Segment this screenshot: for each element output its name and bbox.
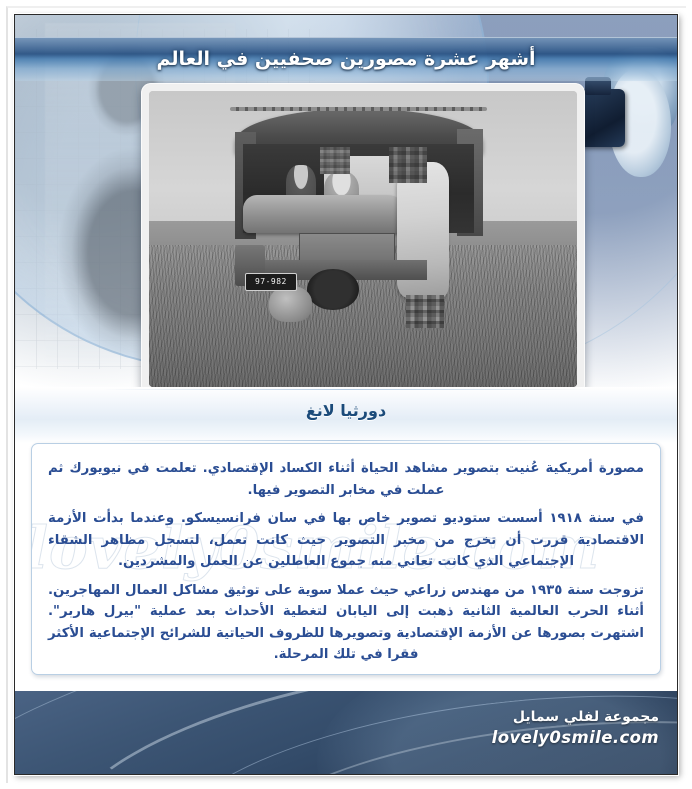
biography-paragraph: مصورة أمريكية عُنيت بتصوير مشاهد الحياة … [48, 458, 644, 501]
biography-card: lovely0smile.com مصورة أمريكية عُنيت بتص… [31, 443, 661, 675]
subject-name: دورثيا لانغ [15, 401, 677, 420]
page-title: أشهر عشرة مصورين صحفيين في العالم [15, 41, 677, 77]
featured-photo: 97-982 [149, 91, 577, 387]
license-plate: 97-982 [245, 273, 296, 291]
biography-section: lovely0smile.com مصورة أمريكية عُنيت بتص… [15, 443, 677, 691]
poster-page: أشهر عشرة مصورين صحفيين في العالم [0, 0, 692, 789]
footer-group-name: مجموعة لفلي سمايل [492, 709, 659, 727]
subject-name-band: دورثيا لانغ [15, 387, 677, 443]
header-banner: أشهر عشرة مصورين صحفيين في العالم [15, 15, 677, 387]
censor-pixel-block-top-left [320, 147, 350, 174]
bedding-roll [243, 195, 406, 233]
truck-wheel [307, 269, 358, 310]
censor-pixel-block-top-right [389, 147, 428, 183]
footer-brand: مجموعة لفلي سمايل lovely0smile.com [492, 709, 659, 748]
biography-paragraph: تزوجت سنة ١٩٣٥ من مهندس زراعي حيث عملا س… [48, 580, 644, 666]
featured-photo-card: 97-982 [141, 83, 585, 387]
truck-canopy-rail [230, 107, 487, 111]
biography-paragraph: في سنة ١٩١٨ أسست ستوديو تصوير خاص بها في… [48, 508, 644, 573]
footer-website-url[interactable]: lovely0smile.com [492, 727, 659, 748]
poster-frame: أشهر عشرة مصورين صحفيين في العالم [14, 14, 678, 775]
cloth-sack [269, 286, 312, 322]
censor-pixel-block-bottom [406, 295, 445, 328]
footer-band: مجموعة لفلي سمايل lovely0smile.com [15, 691, 677, 775]
